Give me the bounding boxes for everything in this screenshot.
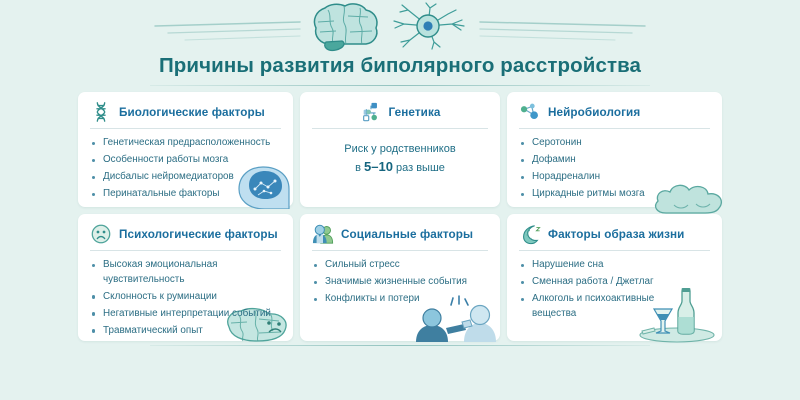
card-lifestyle[interactable]: Факторы образа жизни Нарушение сна Сменн… [507,214,722,341]
title-divider-top [150,85,650,86]
list-item: Высокая эмоциональная чувствительность [90,258,281,287]
card-divider [312,250,488,251]
list-item: Дисбалыс нейромедиаторов [90,170,281,185]
card-title: Биологические факторы [119,106,265,119]
list-item: Сильный стресс [312,258,488,273]
list-item: Сменная работа / Джетлаг [519,275,710,290]
genetics-prefix: в [355,162,364,174]
list-item: Серотонин [519,136,710,151]
card-header: Нейробиология [519,101,710,128]
card-header: Социальные факторы [312,223,488,250]
list-item: Норадреналин [519,170,710,185]
page-title: Причины развития биполярного расстройств… [0,54,800,78]
card-header: Факторы образа жизни [519,223,710,250]
card-divider [90,128,281,129]
family-tree-icon [360,101,382,123]
crescent-moon-icon [519,223,541,245]
card-biological[interactable]: Биологические факторы Генетическая предр… [78,92,293,207]
list-item: Перинатальные факторы [90,187,281,202]
list-item: Склонность к руминации [90,290,281,305]
genetics-value: 5–10 [364,159,393,174]
brain-illustration [314,4,377,51]
list-item: Алкоголь и психоактивные вещества [519,292,682,321]
list-item: Особенности работы мозга [90,153,281,168]
list-item: Дофамин [519,153,710,168]
cards-grid: Биологические факторы Генетическая предр… [78,92,722,341]
card-item-list: Генетическая предрасположенность Особенн… [90,136,281,202]
card-title: Факторы образа жизни [548,228,684,241]
card-item-list: Серотонин Дофамин Норадреналин Циркадные… [519,136,710,202]
list-item: Значимые жизненные события [312,275,488,290]
genetics-statistic: Риск у родственников в 5–10 раз выше [312,136,488,177]
footer-divider [150,345,650,346]
card-divider [519,250,710,251]
card-divider [519,128,710,129]
card-divider [90,250,281,251]
card-divider [312,128,488,129]
list-item: Травматический опыт [90,324,281,339]
card-header: Генетика [312,101,488,128]
card-header: Биологические факторы [90,101,281,128]
sad-face-icon [90,223,112,245]
infographic-canvas: Причины развития биполярного расстройств… [0,0,800,400]
card-psychological[interactable]: Психологические факторы Высокая эмоциона… [78,214,293,341]
card-neurobiology[interactable]: Нейробиология Серотонин Дофамин Норадрен… [507,92,722,207]
genetics-suffix: раз выше [393,162,445,174]
neuron-illustration [394,3,464,49]
card-title: Психологические факторы [119,228,278,241]
two-people-icon [312,223,334,245]
list-item: Циркадные ритмы мозга [519,187,710,202]
card-title: Генетика [389,106,441,119]
card-title: Социальные факторы [341,228,473,241]
genetics-line-2: в 5–10 раз выше [312,158,488,177]
card-item-list: Сильный стресс Значимые жизненные событи… [312,258,488,307]
card-item-list: Высокая эмоциональная чувствительность С… [90,258,281,338]
card-genetics[interactable]: Генетика Риск у родственников в 5–10 раз… [300,92,500,207]
header-illustration-band [0,0,800,52]
list-item: Генетическая предрасположенность [90,136,281,151]
card-item-list: Нарушение сна Сменная работа / Джетлаг А… [519,258,710,321]
list-item: Конфликты и потери [312,292,488,307]
molecule-icon [519,101,541,123]
card-header: Психологические факторы [90,223,281,250]
list-item: Нарушение сна [519,258,710,273]
card-social[interactable]: Социальные факторы Сильный стресс Значим… [300,214,500,341]
dna-icon [90,101,112,123]
list-item: Негативные интерпретации событий [90,307,281,322]
genetics-line-1: Риск у родственников [312,141,488,158]
card-title: Нейробиология [548,106,640,119]
